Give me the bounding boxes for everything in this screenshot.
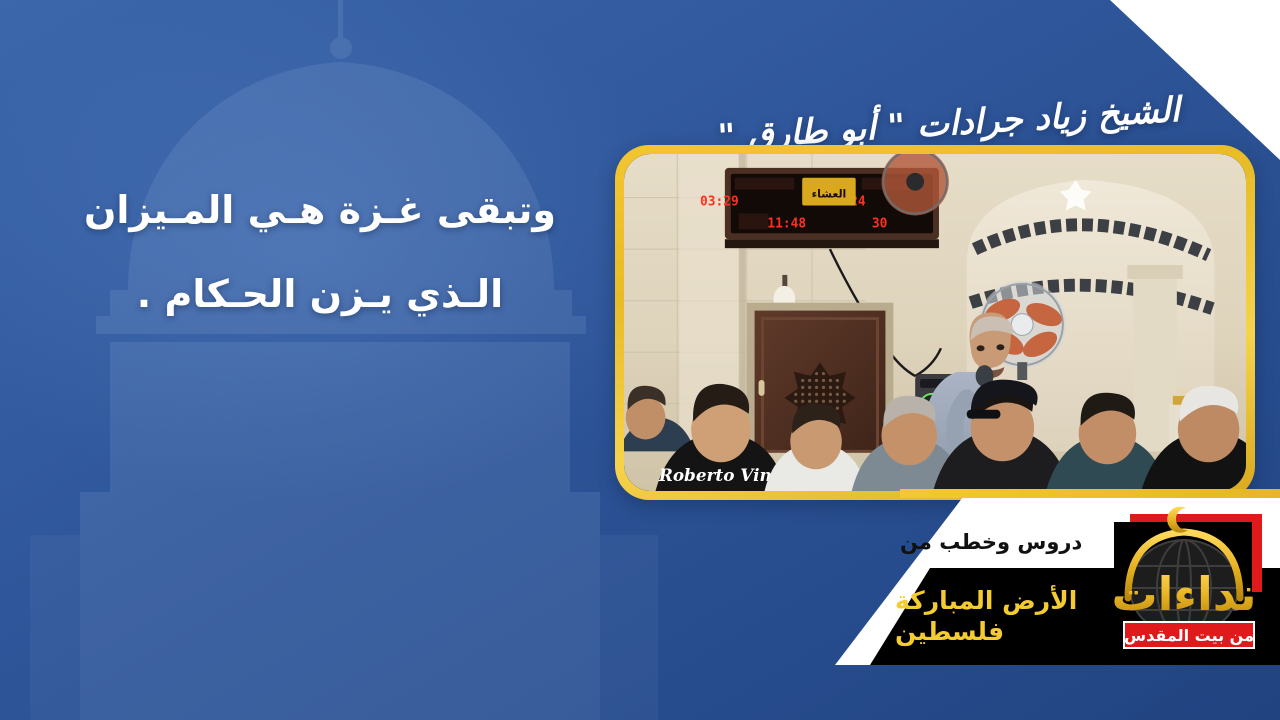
- mosque-lecture-photo: 03:29 03:24 11:48 30 العشاء: [624, 154, 1246, 491]
- logo-wordmark: نداءات: [1111, 567, 1256, 621]
- poster-canvas: الشيخ زياد جرادات " أبو طارق " وتبقى غـز…: [0, 0, 1280, 720]
- logo-banner: من بيت المقدس: [1124, 622, 1254, 648]
- svg-text:30: 30: [872, 216, 888, 231]
- svg-text:03:29: 03:29: [700, 195, 739, 210]
- photo-inner-frame: 03:29 03:24 11:48 30 العشاء: [624, 154, 1246, 491]
- svg-text:11:48: 11:48: [767, 216, 806, 231]
- branding-yellow-strip: [900, 489, 1280, 498]
- photo-frame: 03:29 03:24 11:48 30 العشاء: [615, 145, 1255, 500]
- svg-text:العشاء: العشاء: [812, 188, 847, 201]
- svg-text:من بيت المقدس: من بيت المقدس: [1124, 626, 1254, 645]
- quote-text: وتبقى غـزة هـي المـيزان الـذي يـزن الحـك…: [60, 180, 580, 325]
- quote-line-2: الـذي يـزن الحـكام .: [60, 264, 580, 326]
- svg-text:Roberto Vino: Roberto Vino: [658, 465, 783, 485]
- quote-line-1: وتبقى غـزة هـي المـيزان: [60, 180, 580, 242]
- channel-logo[interactable]: نداءات من بيت المقدس: [1108, 506, 1274, 666]
